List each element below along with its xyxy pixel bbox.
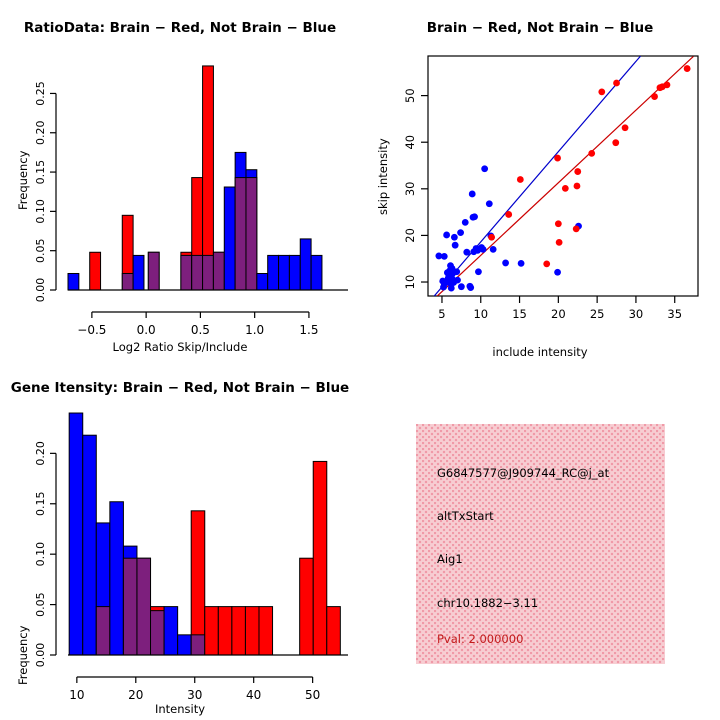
panel-annotation-info: G6847577@J909744_RC@j_at altTxStart Aig1… xyxy=(360,360,720,720)
y-tick-label: 0.00 xyxy=(34,278,47,303)
histogram-bar-overlap xyxy=(151,611,165,655)
scatter-point xyxy=(471,213,478,220)
x-tick-label: 0.5 xyxy=(191,323,210,337)
x-tick-label: 5 xyxy=(438,307,445,321)
x-tick-label: 40 xyxy=(246,688,261,700)
scatter-point xyxy=(463,249,470,256)
scatter-point xyxy=(588,150,595,157)
scatter-frame xyxy=(428,56,698,296)
y-tick-label: 0.00 xyxy=(34,643,47,668)
scatter-point xyxy=(612,139,619,146)
histogram-bar xyxy=(259,607,273,655)
fit-line xyxy=(433,56,640,297)
scatter-point xyxy=(467,284,474,291)
x-tick-label: 25 xyxy=(590,307,605,321)
scatter-point xyxy=(664,81,671,88)
histogram-bar xyxy=(327,607,341,655)
histogram-bar xyxy=(289,255,300,290)
histogram-bar-overlap xyxy=(192,255,203,290)
scatter-point xyxy=(613,80,620,87)
scatter-point xyxy=(574,168,581,175)
scatter-point xyxy=(598,88,605,95)
scatter-point xyxy=(486,200,493,207)
histogram-bar xyxy=(300,239,311,290)
scatter-point xyxy=(543,260,550,267)
histogram-bar xyxy=(268,255,279,290)
histogram-bar xyxy=(133,255,144,290)
x-tick-label: 15 xyxy=(512,307,527,321)
histogram-bar xyxy=(110,502,124,655)
x-tick-label: 10 xyxy=(69,688,84,700)
histogram-bar xyxy=(224,187,235,290)
y-tick-label: 0.15 xyxy=(34,160,47,185)
x-tick-label: 0.0 xyxy=(137,323,156,337)
x-tick-label: −0.5 xyxy=(77,323,106,337)
histogram-bar-overlap xyxy=(148,252,159,290)
histogram-bar-overlap xyxy=(235,178,246,290)
y-tick-label: 0.15 xyxy=(34,492,47,517)
histogram-bar-overlap xyxy=(213,252,224,290)
histogram-bar-overlap xyxy=(137,558,151,655)
histogram-bar-overlap xyxy=(122,273,133,290)
histogram-bar xyxy=(191,511,205,655)
scatter-point xyxy=(462,219,469,226)
locus-text: chr10.1882−3.11 xyxy=(437,596,538,610)
histogram-bar-overlap xyxy=(203,255,214,290)
histogram-bar xyxy=(300,558,314,655)
histogram-bar xyxy=(232,607,246,655)
info-panel: G6847577@J909744_RC@j_at altTxStart Aig1… xyxy=(416,424,665,664)
histogram-bar xyxy=(279,255,290,290)
x-tick-label: 20 xyxy=(128,688,143,700)
scatter-point xyxy=(457,229,464,236)
scatter-point xyxy=(573,225,580,232)
histogram-bar-overlap xyxy=(123,558,137,655)
scatter-point xyxy=(556,239,563,246)
histogram-bar xyxy=(164,607,178,655)
scatter-y-axis: 1020304050 xyxy=(403,88,428,289)
scatter-point xyxy=(684,65,691,72)
scatter-point xyxy=(517,176,524,183)
scatter-xlabel: include intensity xyxy=(360,345,720,359)
x-tick-label: 35 xyxy=(667,307,682,321)
x-tick-label: 50 xyxy=(305,688,320,700)
x-tick-label: 10 xyxy=(473,307,488,321)
scatter-point xyxy=(448,285,455,292)
gene-x-axis: 1020304050 xyxy=(69,677,320,700)
scatter-point xyxy=(651,93,658,100)
y-tick-label: 0.20 xyxy=(34,121,47,146)
scatter-point xyxy=(518,260,525,267)
histogram-bar xyxy=(257,273,268,290)
gene-y-axis: 0.000.050.100.150.20 xyxy=(34,441,56,667)
scatter-point xyxy=(458,283,465,290)
y-tick-label: 40 xyxy=(403,135,417,150)
scatter-point xyxy=(440,284,447,291)
x-tick-label: 30 xyxy=(187,688,202,700)
gene-bars xyxy=(69,413,340,655)
x-tick-label: 1.5 xyxy=(299,323,318,337)
y-tick-label: 30 xyxy=(403,181,417,196)
scatter-point xyxy=(505,211,512,218)
scatter-point xyxy=(488,234,495,241)
pval-text: Pval: 2.000000 xyxy=(437,632,523,646)
scatter-point xyxy=(562,185,569,192)
scatter-inner xyxy=(433,56,693,297)
y-tick-label: 0.05 xyxy=(34,238,47,262)
gene-symbol-text: Aig1 xyxy=(437,552,463,566)
histogram-bar xyxy=(205,607,219,655)
y-tick-label: 10 xyxy=(403,275,417,290)
histogram-bar xyxy=(313,461,327,655)
x-tick-label: 30 xyxy=(629,307,644,321)
x-tick-label: 1.0 xyxy=(245,323,264,337)
scatter-point xyxy=(453,268,460,275)
histogram-bar xyxy=(69,413,83,655)
histogram-bar xyxy=(245,607,259,655)
histogram-bar xyxy=(83,435,97,655)
y-tick-label: 0.20 xyxy=(34,441,47,466)
scatter-point xyxy=(574,183,581,190)
y-tick-label: 0.25 xyxy=(34,81,47,106)
histogram-bar xyxy=(311,255,322,290)
histogram-bar-overlap xyxy=(246,178,257,290)
scatter-point xyxy=(451,234,458,241)
histogram-bar xyxy=(218,607,232,655)
scatter-point xyxy=(454,277,461,284)
scatter-point xyxy=(480,246,487,253)
ratio-bars xyxy=(68,66,322,290)
x-tick-label: 20 xyxy=(551,307,566,321)
ratio-y-axis: 0.000.050.100.150.200.25 xyxy=(34,81,56,302)
histogram-bar xyxy=(90,252,101,290)
panel-intensity-scatter: Brain − Red, Not Brain − Blue skip inten… xyxy=(360,0,720,360)
event-type-text: altTxStart xyxy=(437,509,494,523)
panel-ratio-histogram: RatioData: Brain − Red, Not Brain − Blue… xyxy=(0,0,360,360)
panel-gene-histogram: Gene Itensity: Brain − Red, Not Brain − … xyxy=(0,360,360,720)
scatter-point xyxy=(490,246,497,253)
scatter-point xyxy=(441,253,448,260)
y-tick-label: 0.10 xyxy=(34,542,47,567)
histogram-bar xyxy=(178,635,192,655)
scatter-point xyxy=(554,269,561,276)
gene-histogram-plot: 0.000.050.100.150.201020304050 xyxy=(0,370,360,700)
histogram-bar-overlap xyxy=(96,607,110,655)
scatter-point xyxy=(622,124,629,131)
y-tick-label: 0.05 xyxy=(34,592,47,617)
scatter-point xyxy=(481,165,488,172)
scatter-point xyxy=(554,155,561,162)
histogram-bar-overlap xyxy=(191,635,205,655)
y-tick-label: 50 xyxy=(403,88,417,103)
scatter-point xyxy=(452,242,459,249)
scatter-point xyxy=(502,260,509,267)
gene-histogram-xlabel: Intensity xyxy=(0,702,360,716)
ratio-histogram-xlabel: Log2 Ratio Skip/Include xyxy=(0,340,360,354)
histogram-bar xyxy=(68,273,79,290)
probe-id-text: G6847577@J909744_RC@j_at xyxy=(437,466,609,480)
fit-line xyxy=(437,56,693,296)
scatter-point xyxy=(475,268,482,275)
scatter-x-axis: 5101520253035 xyxy=(438,296,682,321)
scatter-point xyxy=(443,232,450,239)
ratio-histogram-plot: 0.000.050.100.150.200.25−0.50.00.51.01.5 xyxy=(0,10,360,340)
figure-canvas: RatioData: Brain − Red, Not Brain − Blue… xyxy=(0,0,720,720)
y-tick-label: 20 xyxy=(403,228,417,243)
scatter-point xyxy=(469,191,476,198)
scatter-point xyxy=(555,220,562,227)
y-tick-label: 0.10 xyxy=(34,199,47,224)
ratio-x-axis: −0.50.00.51.01.5 xyxy=(77,312,318,337)
histogram-bar-overlap xyxy=(181,255,192,290)
scatter-plot: 10203040505101520253035 xyxy=(360,8,720,343)
